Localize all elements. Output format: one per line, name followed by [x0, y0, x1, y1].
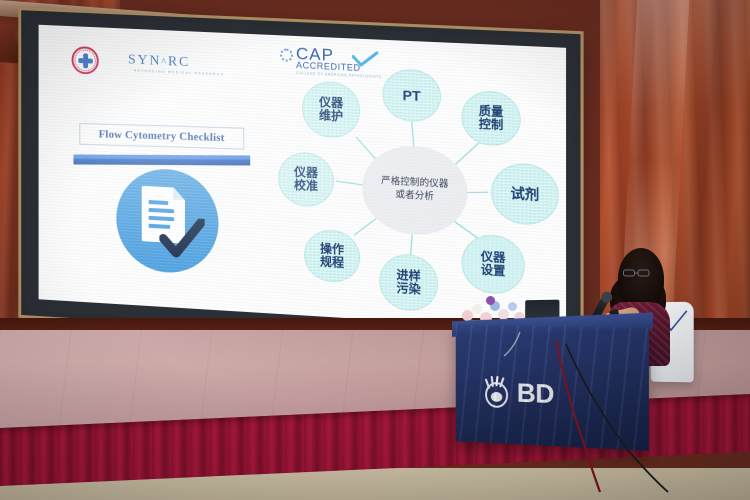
node-line: 试剂	[510, 186, 539, 203]
node-line: 校准	[294, 179, 318, 193]
conference-photo-scene: SYN^RC ADVANCING MEDICAL RESEARCH CAP AC…	[0, 0, 750, 500]
node-line: 维护	[319, 109, 343, 123]
bd-logo-text: BD	[517, 377, 554, 409]
presenter-table: BD	[456, 324, 649, 451]
slide-content: SYN^RC ADVANCING MEDICAL RESEARCH CAP AC…	[39, 25, 566, 332]
medical-cross-icon	[78, 53, 93, 68]
slide-accent-bar	[73, 155, 250, 166]
mindmap-center-label: 严格控制的仪器或者分析	[380, 176, 449, 205]
glasses-icon	[623, 269, 651, 277]
node-line: 规程	[320, 255, 344, 269]
flower	[486, 296, 495, 305]
node-line: 控制	[479, 118, 504, 132]
synarc-text-b: RC	[168, 54, 190, 70]
accent-bar-highlight	[73, 155, 250, 160]
node-line: 污染	[396, 282, 420, 296]
slide-title: Flow Cytometry Checklist	[79, 123, 244, 150]
medical-seal-logo	[72, 46, 99, 75]
document-checklist-icon	[116, 167, 218, 276]
bd-sunburst-icon	[482, 376, 511, 409]
bd-logo: BD	[482, 372, 590, 416]
node-line: 设置	[481, 264, 506, 278]
synarc-text-a: SYN	[128, 52, 161, 68]
node-line: PT	[403, 88, 421, 104]
doc-line	[149, 200, 169, 205]
page-fold	[173, 187, 185, 200]
doc-line	[149, 208, 175, 213]
flower	[472, 304, 482, 314]
screen-surface: SYN^RC ADVANCING MEDICAL RESEARCH CAP AC…	[39, 25, 566, 332]
checkmark-icon	[159, 216, 204, 260]
mindmap-diagram: 严格控制的仪器或者分析 PT 质量 控制 试剂	[264, 41, 566, 332]
hair-top	[618, 248, 664, 310]
flower	[508, 302, 517, 311]
synarc-subtitle: ADVANCING MEDICAL RESEARCH	[134, 69, 225, 77]
